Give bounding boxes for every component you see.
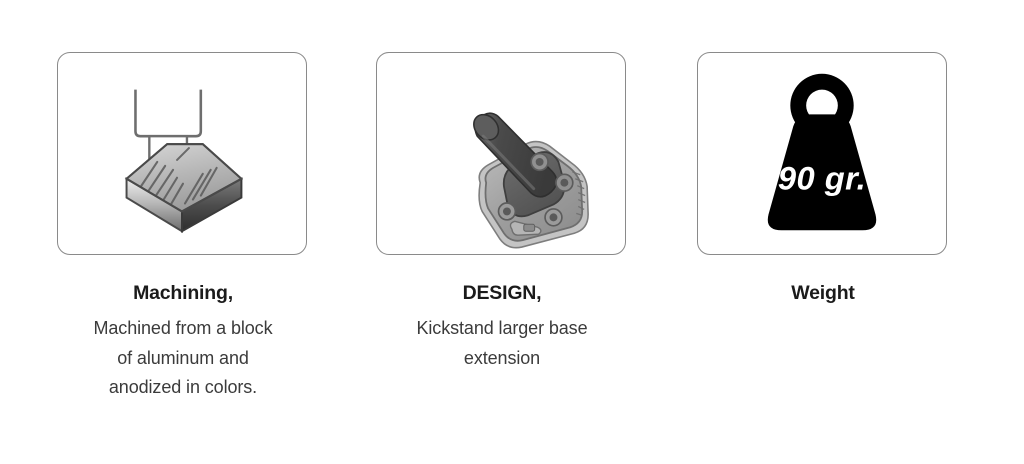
icon-card-design bbox=[376, 52, 626, 255]
weight-icon: 90 gr. bbox=[698, 53, 946, 254]
caption-weight: Weight bbox=[697, 281, 949, 305]
feature-design: DESIGN, Kickstand larger base extension bbox=[376, 52, 628, 373]
kickstand-extension-icon bbox=[377, 53, 625, 254]
caption-design: DESIGN, Kickstand larger base extension bbox=[376, 281, 628, 373]
feature-title: DESIGN, bbox=[376, 281, 628, 305]
feature-cards-row: Machining, Machined from a block of alum… bbox=[0, 0, 1024, 464]
feature-body-line: Machined from a block bbox=[57, 314, 309, 343]
feature-title: Machining, bbox=[57, 281, 309, 305]
feature-body-line: anodized in colors. bbox=[57, 373, 309, 402]
feature-body-line: extension bbox=[376, 344, 628, 373]
feature-body: Kickstand larger base extension bbox=[376, 314, 628, 372]
feature-title: Weight bbox=[697, 281, 949, 305]
icon-card-weight: 90 gr. bbox=[697, 52, 947, 255]
feature-weight: 90 gr. Weight bbox=[697, 52, 949, 314]
icon-card-machining bbox=[57, 52, 307, 255]
cnc-machining-icon bbox=[58, 53, 306, 254]
feature-machining: Machining, Machined from a block of alum… bbox=[57, 52, 309, 402]
weight-icon-label: 90 gr. bbox=[778, 160, 866, 197]
caption-machining: Machining, Machined from a block of alum… bbox=[57, 281, 309, 402]
feature-body-line: of aluminum and bbox=[57, 344, 309, 373]
feature-body-line: Kickstand larger base bbox=[376, 314, 628, 343]
feature-body: Machined from a block of aluminum and an… bbox=[57, 314, 309, 401]
